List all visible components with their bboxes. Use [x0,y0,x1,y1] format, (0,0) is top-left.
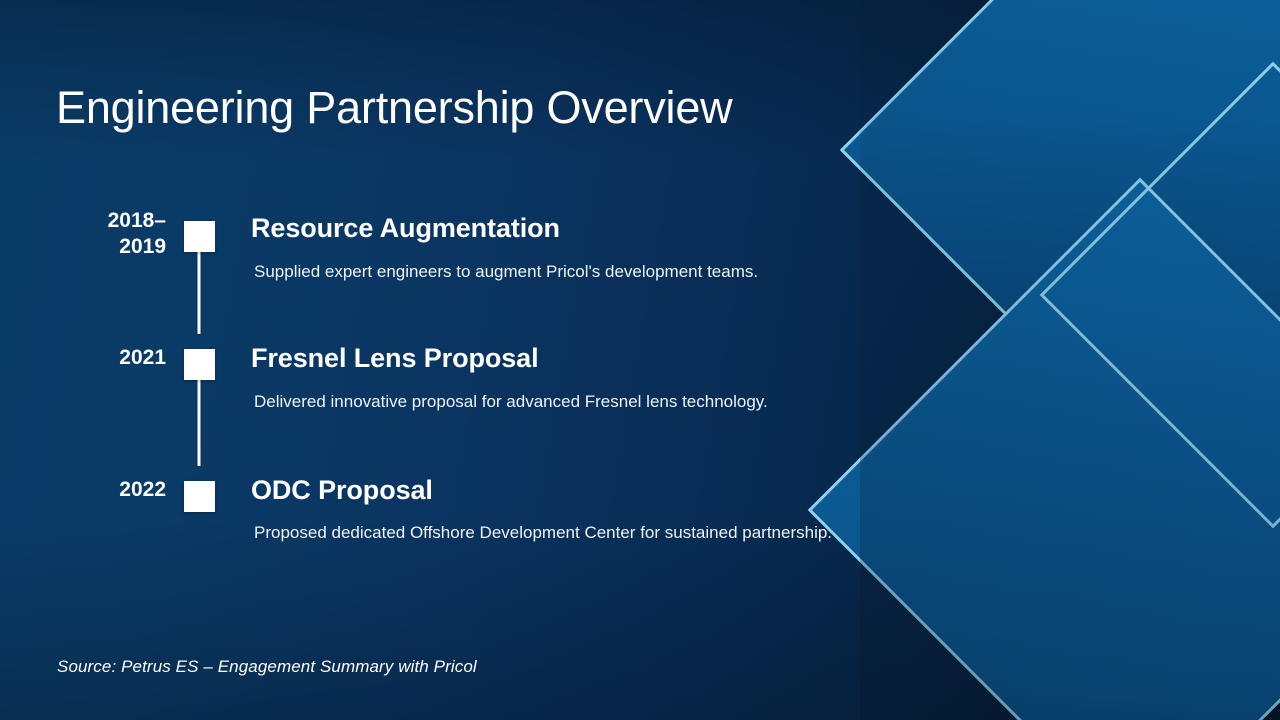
timeline-marker-column [166,200,232,252]
timeline-marker-square [184,349,215,380]
timeline: 2018– 2019 Resource Augmentation Supplie… [56,200,1036,545]
timeline-marker-column [166,465,232,512]
timeline-year-label: 2022 [56,465,166,503]
source-note: Source: Petrus ES – Engagement Summary w… [57,657,477,677]
timeline-year-label: 2018– 2019 [56,200,166,259]
timeline-item: 2022 ODC Proposal Proposed dedicated Off… [56,465,1036,546]
timeline-marker-square [184,221,215,252]
timeline-item: 2021 Fresnel Lens Proposal Delivered inn… [56,333,1036,414]
timeline-connector-line [198,252,201,334]
timeline-heading: Fresnel Lens Proposal [251,343,1036,375]
timeline-year-label: 2021 [56,333,166,371]
timeline-content: Fresnel Lens Proposal Delivered innovati… [232,333,1036,414]
timeline-description: Delivered innovative proposal for advanc… [254,391,1036,414]
timeline-marker-column [166,333,232,380]
timeline-connector-line [198,380,201,466]
timeline-description: Supplied expert engineers to augment Pri… [254,261,1036,284]
timeline-heading: Resource Augmentation [251,213,1036,245]
timeline-content: Resource Augmentation Supplied expert en… [232,200,1036,284]
timeline-heading: ODC Proposal [251,475,1036,507]
page-title: Engineering Partnership Overview [56,82,732,134]
timeline-description: Proposed dedicated Offshore Development … [254,522,1036,545]
timeline-marker-square [184,481,215,512]
slide-canvas: Engineering Partnership Overview 2018– 2… [0,0,1280,720]
timeline-content: ODC Proposal Proposed dedicated Offshore… [232,465,1036,546]
timeline-item: 2018– 2019 Resource Augmentation Supplie… [56,200,1036,284]
